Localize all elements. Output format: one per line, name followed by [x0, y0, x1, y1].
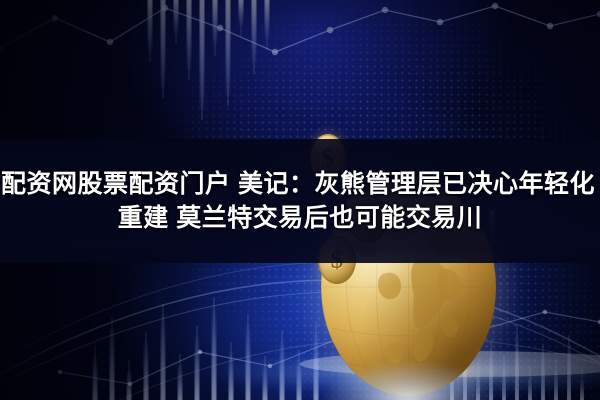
caption-line-1: 配资网股票配资门户 美记：灰熊管理层已决心年轻化	[1, 169, 595, 200]
caption-line-2: 重建 莫兰特交易后也可能交易川	[118, 203, 482, 234]
banner-image: $ $ $ 配资网股票配资门户 美记：灰熊管理层已决心年轻化 重建 莫兰特交易后…	[0, 0, 600, 400]
caption-text-block: 配资网股票配资门户 美记：灰熊管理层已决心年轻化 重建 莫兰特交易后也可能交易川	[0, 139, 600, 263]
